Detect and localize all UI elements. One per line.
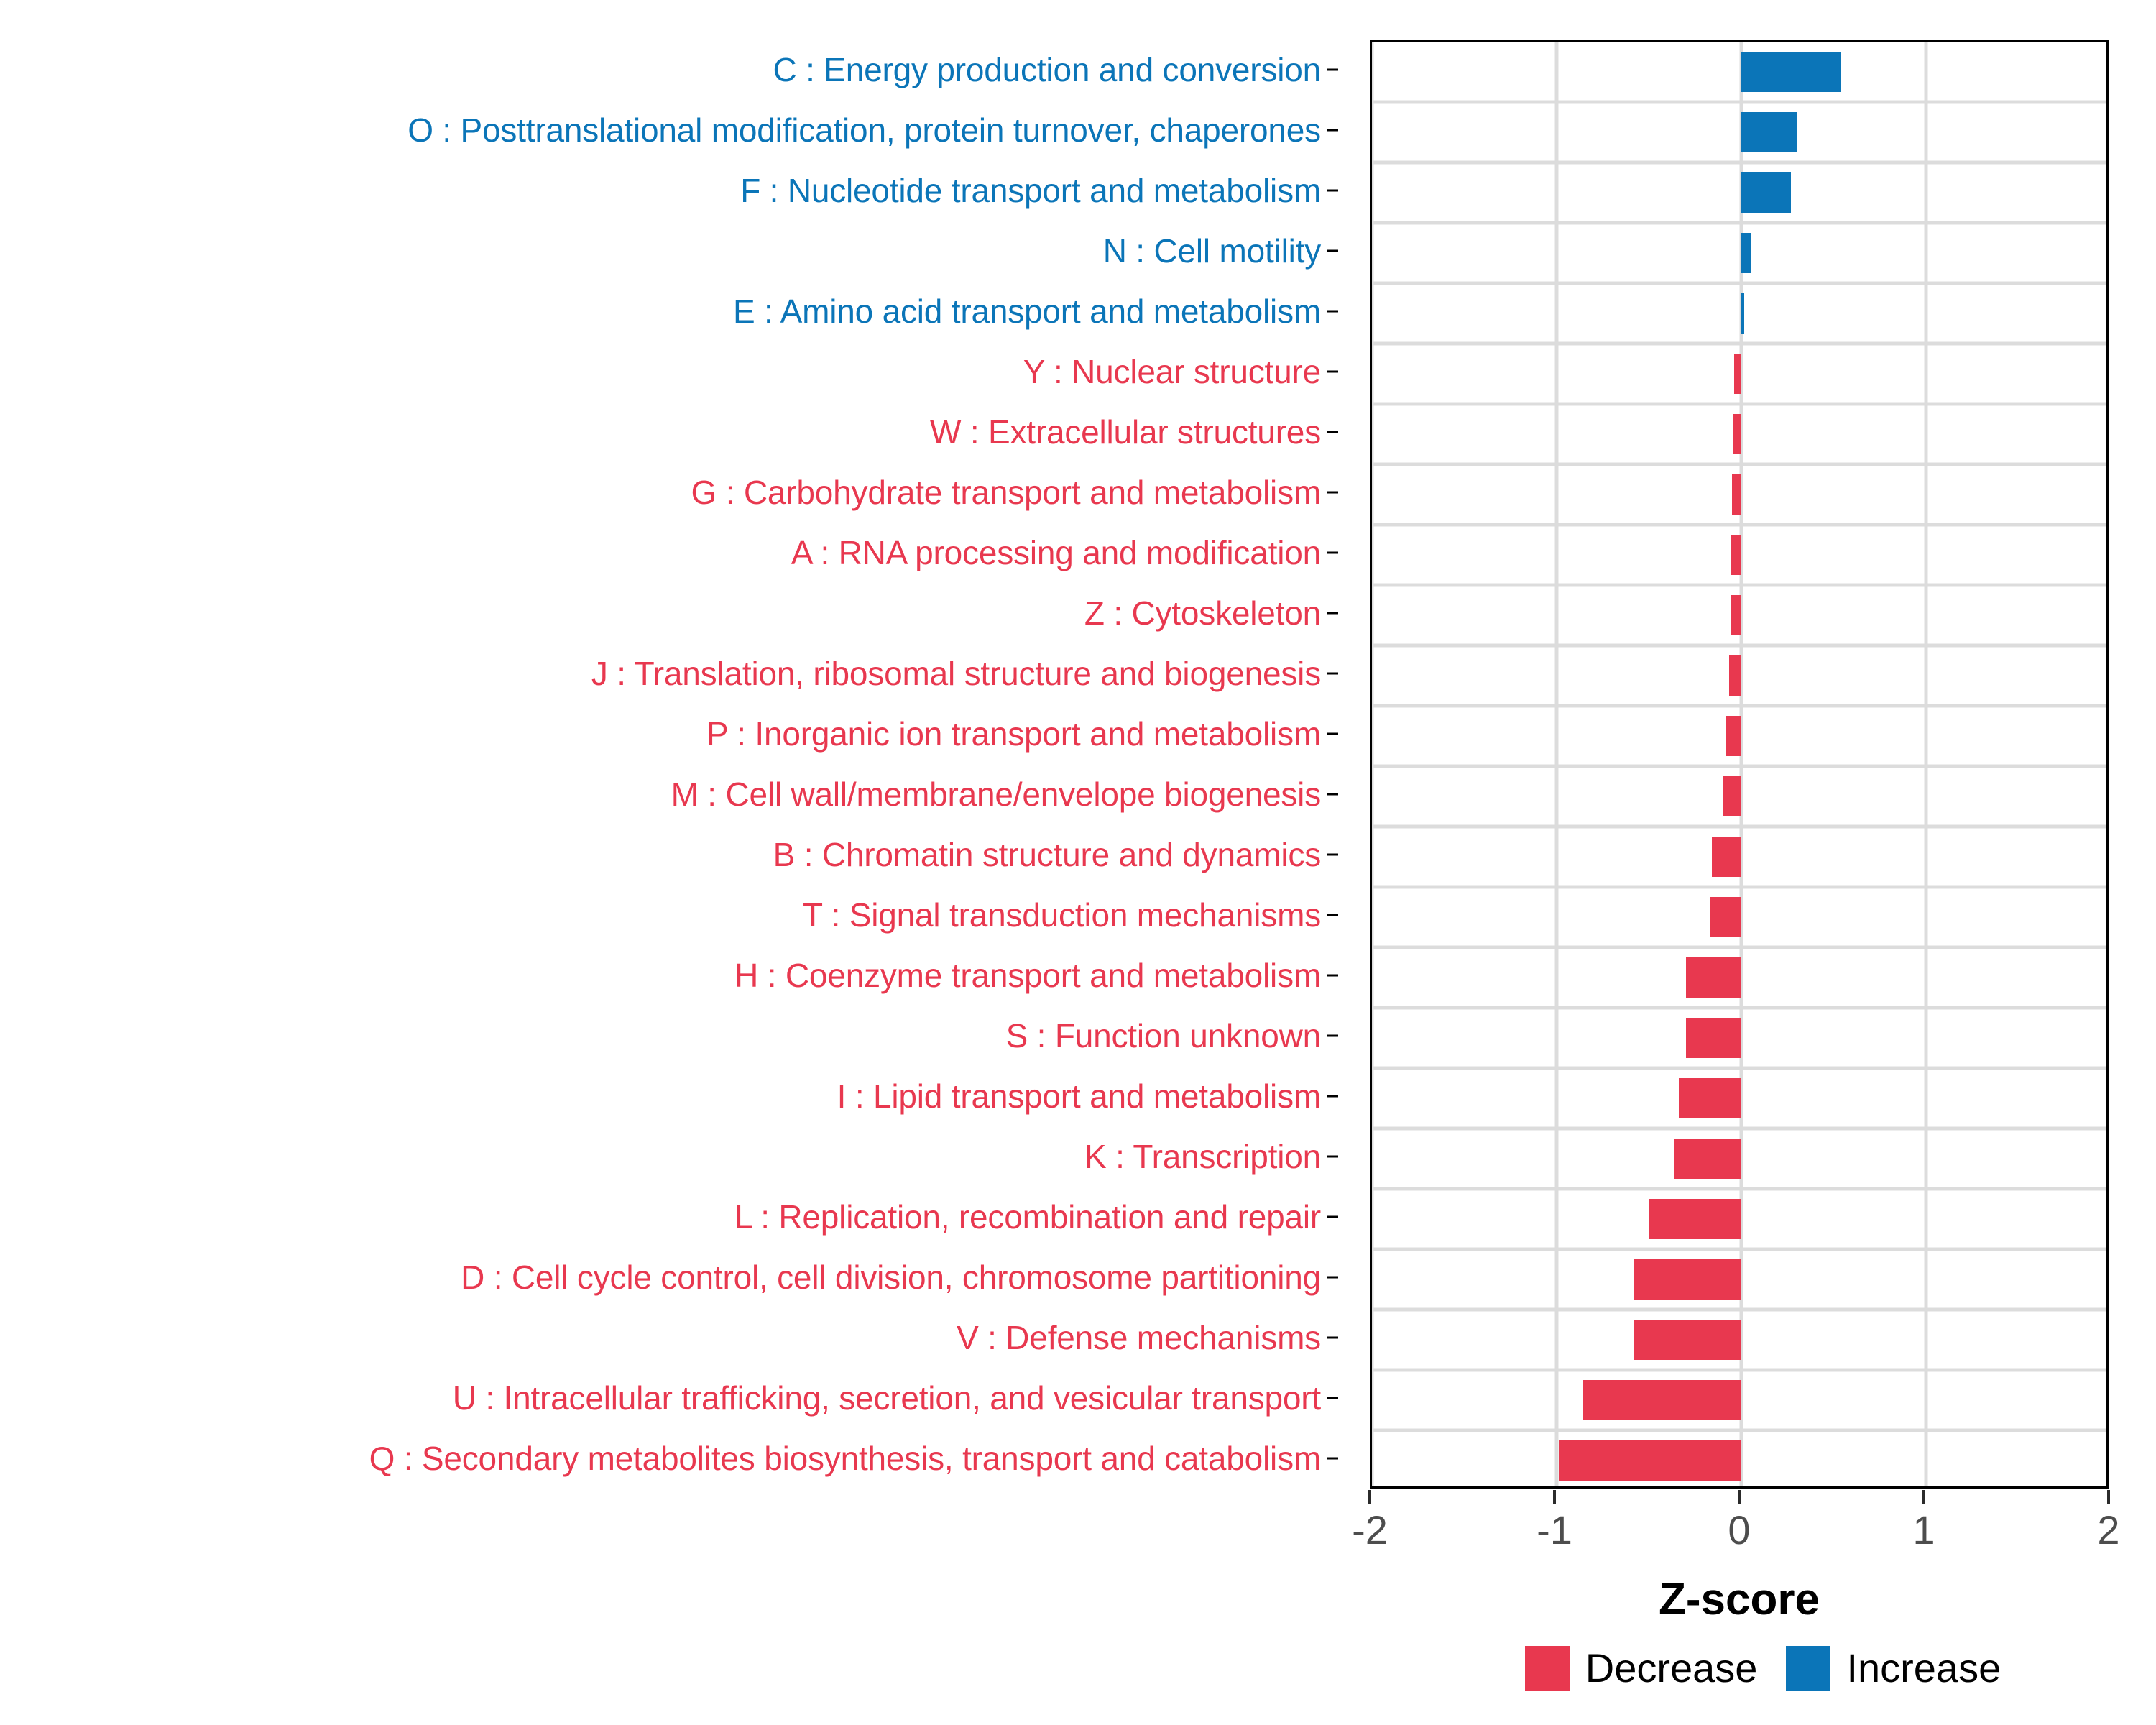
x-axis-tick-label: -2 [1352,1510,1388,1550]
y-axis-tick [1327,1397,1338,1399]
y-axis-label: W : Extracellular structures [930,415,1321,448]
bar [1731,535,1741,575]
x-axis-tick-label: 0 [1728,1510,1750,1550]
y-axis-label: E : Amino acid transport and metabolism [733,295,1321,328]
y-axis-tick [1327,371,1338,373]
bar [1710,897,1741,937]
y-axis-label: B : Chromatin structure and dynamics [773,838,1321,871]
y-axis-labels: C : Energy production and conversionO : … [0,40,1338,1489]
x-axis-tick [1368,1490,1371,1504]
y-axis-label: P : Inorganic ion transport and metaboli… [706,717,1321,750]
y-axis-tick [1327,552,1338,554]
y-axis-tick [1327,1095,1338,1098]
bar [1583,1380,1741,1420]
bar [1674,1138,1741,1179]
y-axis-label: Z : Cytoskeleton [1084,597,1321,630]
x-axis-title: Z-score [1370,1574,2109,1625]
y-axis-label: C : Energy production and conversion [773,53,1321,86]
bar [1741,172,1791,213]
y-axis-label: N : Cell motility [1103,234,1321,267]
y-axis-label: V : Defense mechanisms [957,1321,1321,1354]
chart-root: C : Energy production and conversionO : … [0,0,2156,1725]
legend-swatch-icon [1786,1646,1830,1690]
plot-panel [1370,40,2109,1489]
bar [1741,52,1841,92]
y-axis-tick [1327,492,1338,494]
y-axis-tick [1327,431,1338,433]
x-axis-tick [1553,1490,1556,1504]
bar [1741,233,1751,273]
y-axis-label: J : Translation, ribosomal structure and… [591,657,1321,690]
y-axis-tick [1327,1276,1338,1279]
y-axis-label: M : Cell wall/membrane/envelope biogenes… [671,778,1321,811]
bar [1634,1259,1741,1299]
y-axis-label: Y : Nuclear structure [1023,355,1321,388]
legend-label: Increase [1846,1648,2001,1688]
y-axis-label: K : Transcription [1084,1140,1321,1173]
y-axis-tick [1327,854,1338,856]
x-axis-tick [2107,1490,2110,1504]
y-axis-label: I : Lipid transport and metabolism [837,1080,1321,1113]
y-axis-label: H : Coenzyme transport and metabolism [734,959,1321,992]
x-axis-tick [1922,1490,1925,1504]
y-axis-tick [1327,975,1338,977]
y-axis-tick [1327,612,1338,615]
y-axis-tick [1327,793,1338,796]
x-axis-tick-label: -1 [1537,1510,1572,1550]
y-axis-label: U : Intracellular trafficking, secretion… [453,1381,1321,1414]
y-axis-label: O : Posttranslational modification, prot… [407,114,1321,147]
y-axis-tick [1327,1458,1338,1460]
bar [1733,414,1741,454]
bar [1723,776,1741,816]
chart-legend: DecreaseIncrease [1370,1646,2156,1690]
x-axis-tick-label: 1 [1912,1510,1935,1550]
bar [1741,112,1797,152]
y-axis-tick [1327,1216,1338,1218]
y-axis-label: S : Function unknown [1006,1019,1321,1052]
y-axis-tick [1327,310,1338,313]
y-axis-tick [1327,1156,1338,1158]
y-axis-label: T : Signal transduction mechanisms [803,898,1321,931]
y-axis-tick [1327,673,1338,675]
y-axis-label: G : Carbohydrate transport and metabolis… [691,476,1321,509]
x-axis-tick [1738,1490,1741,1504]
bar [1732,474,1741,515]
y-axis-tick [1327,69,1338,71]
legend-item[interactable]: Increase [1786,1646,2001,1690]
y-axis-label: F : Nucleotide transport and metabolism [740,174,1321,207]
bar [1679,1078,1741,1118]
y-axis-tick [1327,190,1338,192]
bar [1741,293,1744,333]
legend-item[interactable]: Decrease [1525,1646,1758,1690]
y-axis-tick [1327,250,1338,252]
bar [1634,1320,1741,1360]
bar [1734,354,1741,394]
bar [1726,716,1741,756]
bars-layer [1372,42,2106,1486]
legend-swatch-icon [1525,1646,1570,1690]
y-axis-tick [1327,1337,1338,1339]
y-axis-label: D : Cell cycle control, cell division, c… [461,1261,1321,1294]
x-axis-tick-label: 2 [2097,1510,2119,1550]
y-axis-label: A : RNA processing and modification [791,536,1321,569]
bar [1686,957,1741,998]
y-axis-label: Q : Secondary metabolites biosynthesis, … [369,1442,1321,1475]
bar [1686,1018,1741,1058]
legend-label: Decrease [1585,1648,1758,1688]
y-axis-tick [1327,914,1338,916]
bar [1649,1199,1742,1239]
y-axis-tick [1327,129,1338,132]
y-axis-tick [1327,1035,1338,1037]
y-axis-tick [1327,733,1338,735]
bar [1731,595,1741,635]
bar [1729,655,1741,696]
bar [1712,837,1741,877]
y-axis-label: L : Replication, recombination and repai… [734,1200,1321,1233]
bar [1559,1440,1741,1481]
